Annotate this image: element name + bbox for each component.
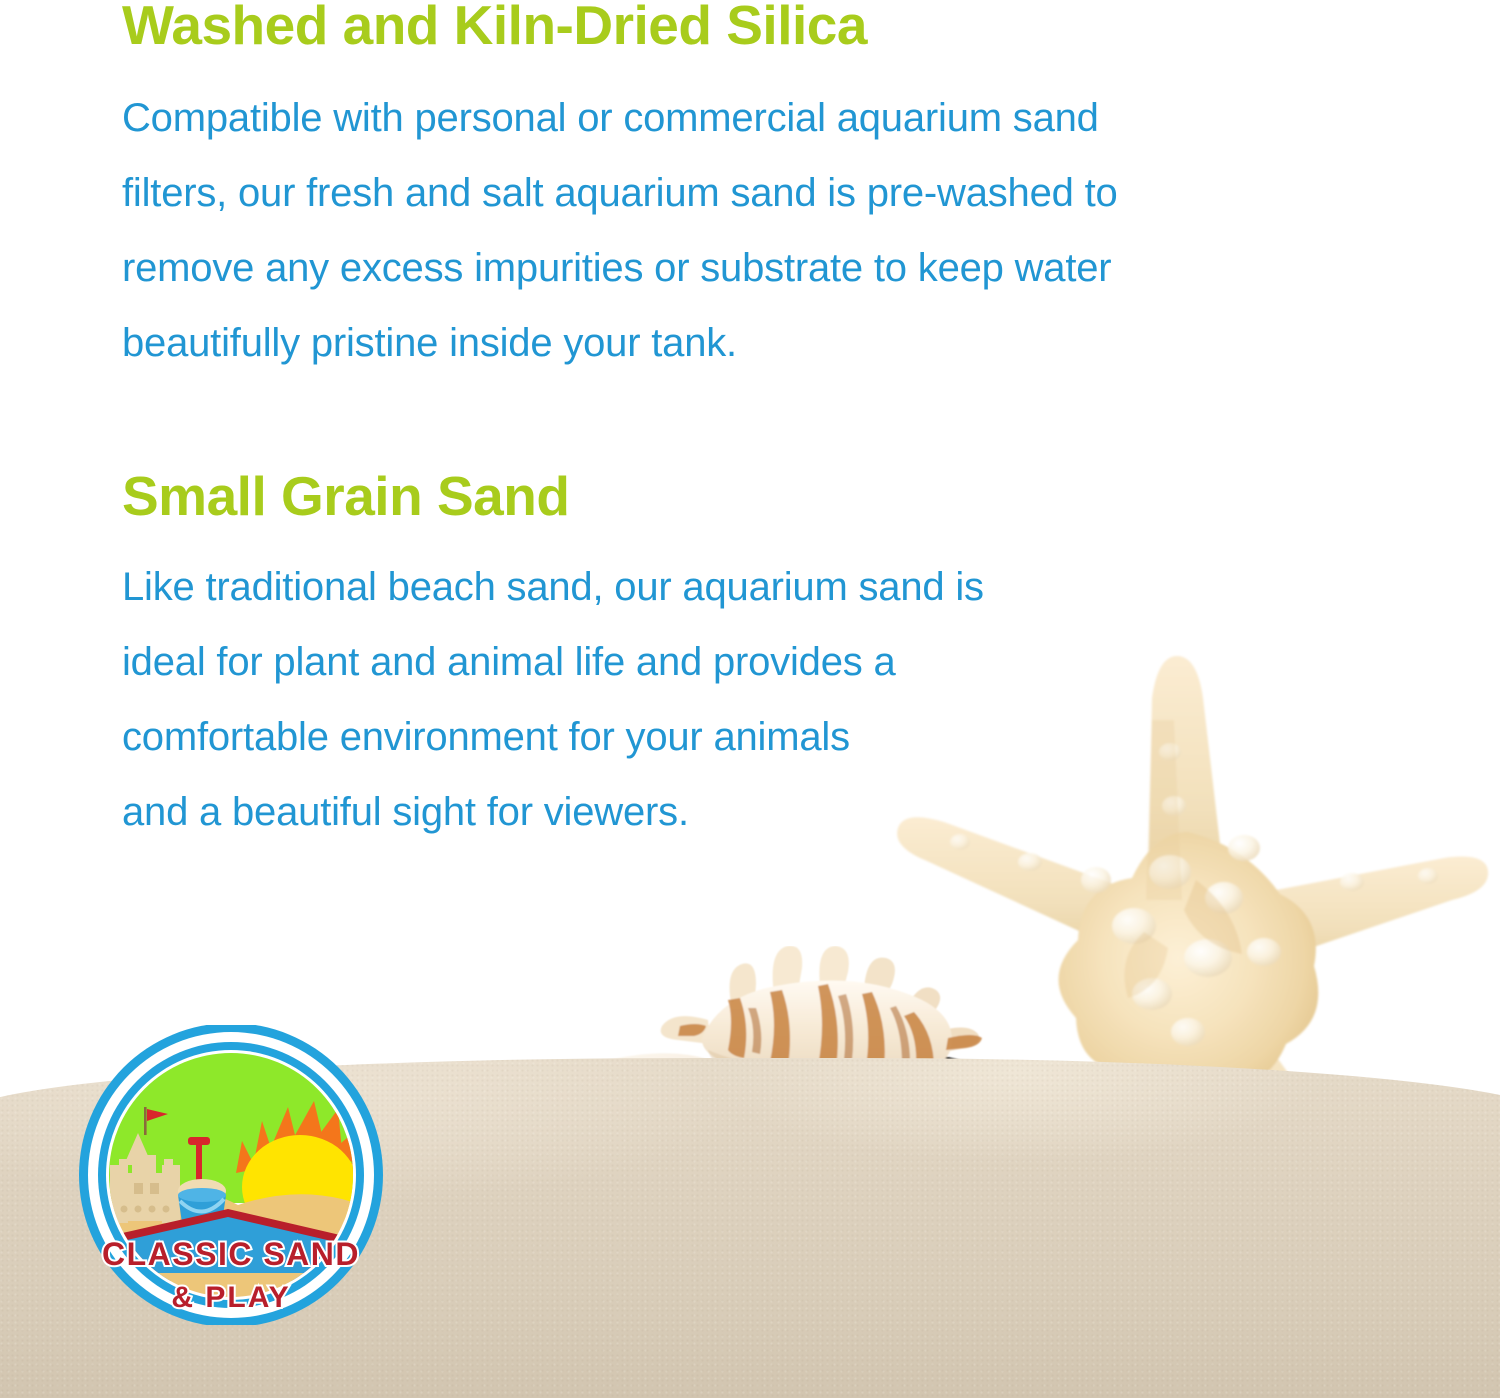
paragraph-2-line-2: ideal for plant and animal life and prov… [122,625,1372,700]
section-paragraph-2: Like traditional beach sand, our aquariu… [122,550,1372,850]
logo-wordmark-line1: CLASSIC SAND [102,1236,360,1272]
section-paragraph-1: Compatible with personal or commercial a… [122,81,1372,381]
paragraph-1-line-1: Compatible with personal or commercial a… [122,81,1372,156]
marketing-copy-block: Washed and Kiln-Dried Silica Compatible … [122,0,1372,850]
paragraph-1-line-4: beautifully pristine inside your tank. [122,306,1372,381]
paragraph-1-line-2: filters, our fresh and salt aquarium san… [122,156,1372,231]
section-heading-small-grain-sand: Small Grain Sand [122,469,1372,524]
classic-sand-and-play-logo: CLASSIC SAND & PLAY [76,1025,386,1325]
logo-wordmark-line2: & PLAY [171,1281,290,1314]
paragraph-2-line-4: and a beautiful sight for viewers. [122,775,1372,850]
paragraph-2-line-3: comfortable environment for your animals [122,700,1372,775]
section-heading-washed-kiln-dried-silica: Washed and Kiln-Dried Silica [122,0,1372,53]
paragraph-1-line-3: remove any excess impurities or substrat… [122,231,1372,306]
section-two: Small Grain Sand Like traditional beach … [122,469,1372,850]
paragraph-2-line-1: Like traditional beach sand, our aquariu… [122,550,1372,625]
